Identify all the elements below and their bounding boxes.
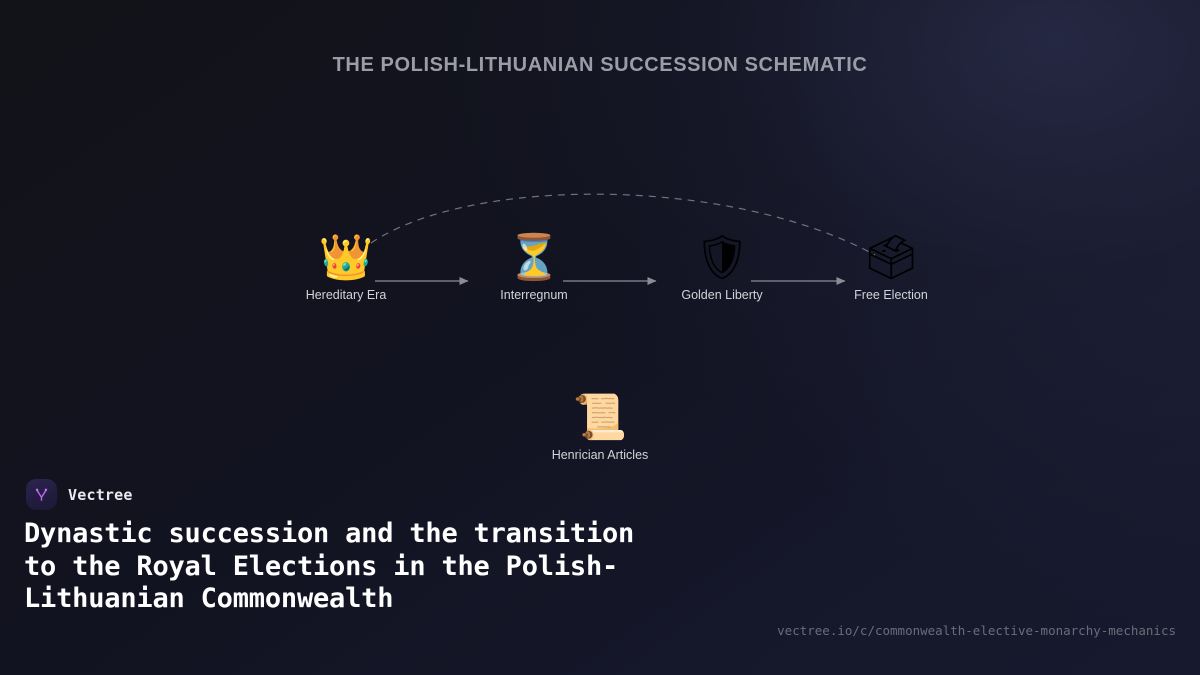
node-label-free-election: Free Election: [821, 288, 961, 302]
crown-icon: 👑: [276, 232, 416, 284]
headline: Dynastic succession and the transition t…: [24, 518, 664, 616]
node-golden-liberty[interactable]: 🛡 Golden Liberty: [652, 232, 792, 302]
shield-icon: 🛡: [652, 232, 792, 284]
hourglass-icon: ⏳: [464, 232, 604, 284]
node-label-hereditary-era: Hereditary Era: [276, 288, 416, 302]
node-hereditary-era[interactable]: 👑 Hereditary Era: [276, 232, 416, 302]
scroll-icon: 📜: [530, 392, 670, 444]
node-free-election[interactable]: 🗳 Free Election: [821, 232, 961, 302]
node-interregnum[interactable]: ⏳ Interregnum: [464, 232, 604, 302]
node-label-interregnum: Interregnum: [464, 288, 604, 302]
vectree-tree-logo-icon: [26, 479, 57, 510]
source-url: vectree.io/c/commonwealth-elective-monar…: [777, 623, 1176, 638]
node-label-golden-liberty: Golden Liberty: [652, 288, 792, 302]
node-label-henrician-articles: Henrician Articles: [530, 448, 670, 462]
schematic-canvas: THE POLISH-LITHUANIAN SUCCESSION SCHEMAT…: [0, 0, 1200, 675]
edge-hereditary-to-free-election-dashed: [371, 194, 875, 255]
brand-name: Vectree: [68, 486, 133, 504]
node-henrician-articles[interactable]: 📜 Henrician Articles: [530, 392, 670, 462]
ballot-box-icon: 🗳: [821, 232, 961, 284]
brand[interactable]: Vectree: [26, 479, 133, 510]
